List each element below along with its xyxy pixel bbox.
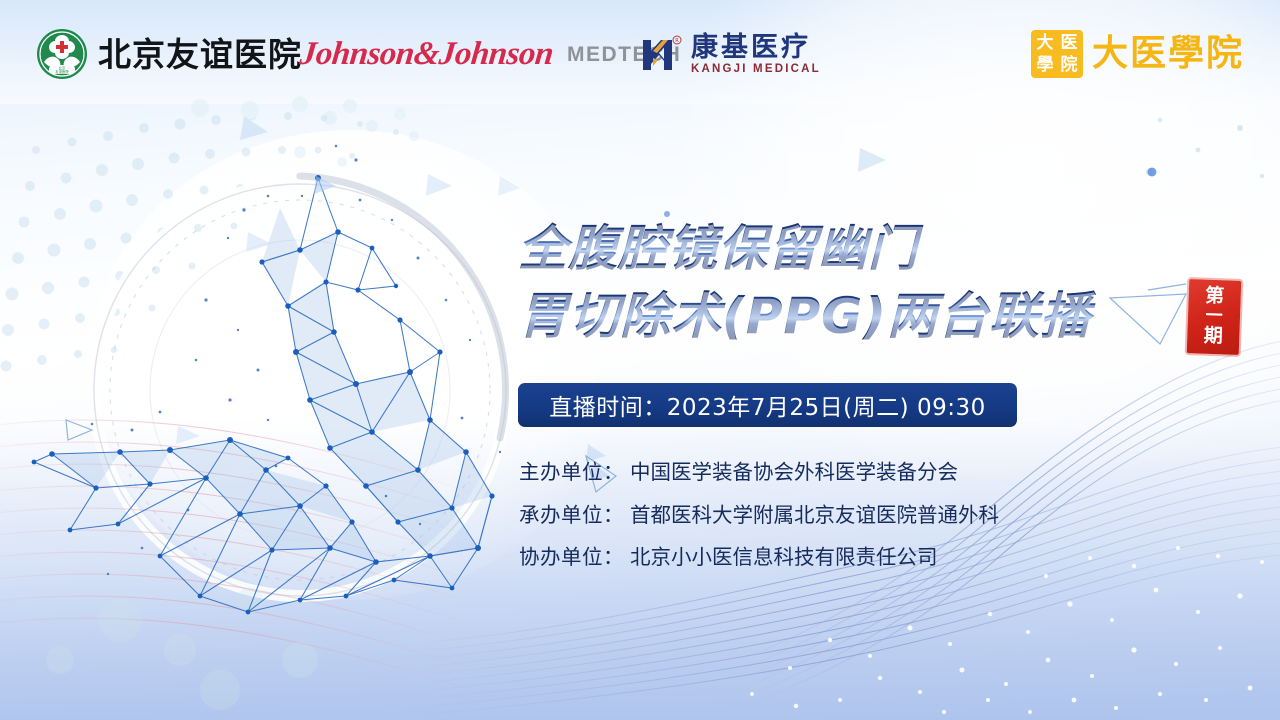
dayi-badge-char-3: 學	[1036, 57, 1053, 74]
kangji-mark-icon: R	[640, 34, 682, 76]
dayi-academy-label: 大医學院	[1092, 36, 1244, 72]
dayi-badge-char-2: 医	[1060, 35, 1077, 52]
organizer-row-undertaker: 承办单位： 首都医科大学附属北京友谊医院普通外科	[519, 505, 1159, 526]
kangji-english-name: KANGJI MEDICAL	[691, 63, 821, 75]
organizer-list: 主办单位： 中国医学装备协会外科医学装备分会 承办单位： 首都医科大学附属北京友…	[519, 462, 1159, 590]
svg-text:R: R	[675, 38, 679, 44]
organizer-row-coorganizer: 协办单位： 北京小小医信息科技有限责任公司	[519, 547, 1159, 568]
hospital-emblem-icon: 北京 友谊医院	[36, 28, 88, 80]
dayi-badge-char-4: 院	[1060, 57, 1077, 74]
svg-text:友谊医院: 友谊医院	[55, 69, 69, 74]
seal-char-1: 第	[1205, 287, 1225, 308]
decorative-artwork	[0, 0, 1280, 720]
dayi-badge-icon: 大 医 學 院	[1031, 30, 1083, 78]
organizer-row-host: 主办单位： 中国医学装备协会外科医学装备分会	[519, 462, 1159, 483]
livestream-time-banner: 直播时间：2023年7月25日(周二) 09:30	[518, 383, 1017, 427]
logo-bar: 北京 友谊医院 北京友谊医院 Johnson&Johnson MEDTECH R…	[0, 0, 1280, 104]
logo-beijing-friendship-hospital[interactable]: 北京 友谊医院 北京友谊医院	[36, 28, 302, 80]
kangji-chinese-name: 康基医疗	[691, 34, 821, 62]
logo-dayi-academy[interactable]: 大 医 學 院 大医學院	[1031, 30, 1244, 78]
organizer-label-undertaker: 承办单位：	[519, 505, 624, 526]
dayi-badge-char-1: 大	[1036, 35, 1053, 52]
poster-title: 全腹腔镜保留幽门 胃切除术(PPG)两台联播	[518, 218, 1158, 348]
stomach-polygon-graphic	[32, 145, 502, 615]
episode-seal-badge: 第 一 期	[1187, 279, 1242, 355]
title-line-1: 全腹腔镜保留幽门	[518, 218, 1158, 279]
jnj-wordmark: Johnson&Johnson	[298, 36, 555, 73]
title-line-2: 胃切除术(PPG)两台联播	[518, 285, 1158, 348]
organizer-label-host: 主办单位：	[519, 462, 624, 483]
organizer-value-undertaker: 首都医科大学附属北京友谊医院普通外科	[630, 505, 999, 526]
organizer-value-coorganizer: 北京小小医信息科技有限责任公司	[630, 547, 938, 568]
logo-johnson-and-johnson-medtech[interactable]: Johnson&Johnson MEDTECH	[300, 36, 681, 73]
seal-char-3: 期	[1203, 327, 1223, 348]
organizer-value-host: 中国医学装备协会外科医学装备分会	[630, 462, 958, 483]
poster-stage: 北京 友谊医院 北京友谊医院 Johnson&Johnson MEDTECH R…	[0, 0, 1280, 720]
seal-char-2: 一	[1205, 308, 1223, 326]
organizer-label-coorganizer: 协办单位：	[519, 547, 624, 568]
livestream-time-text: 直播时间：2023年7月25日(周二) 09:30	[549, 388, 985, 422]
hospital-name-label: 北京友谊医院	[98, 38, 302, 71]
logo-kangji-medical[interactable]: R 康基医疗 KANGJI MEDICAL	[640, 34, 821, 76]
